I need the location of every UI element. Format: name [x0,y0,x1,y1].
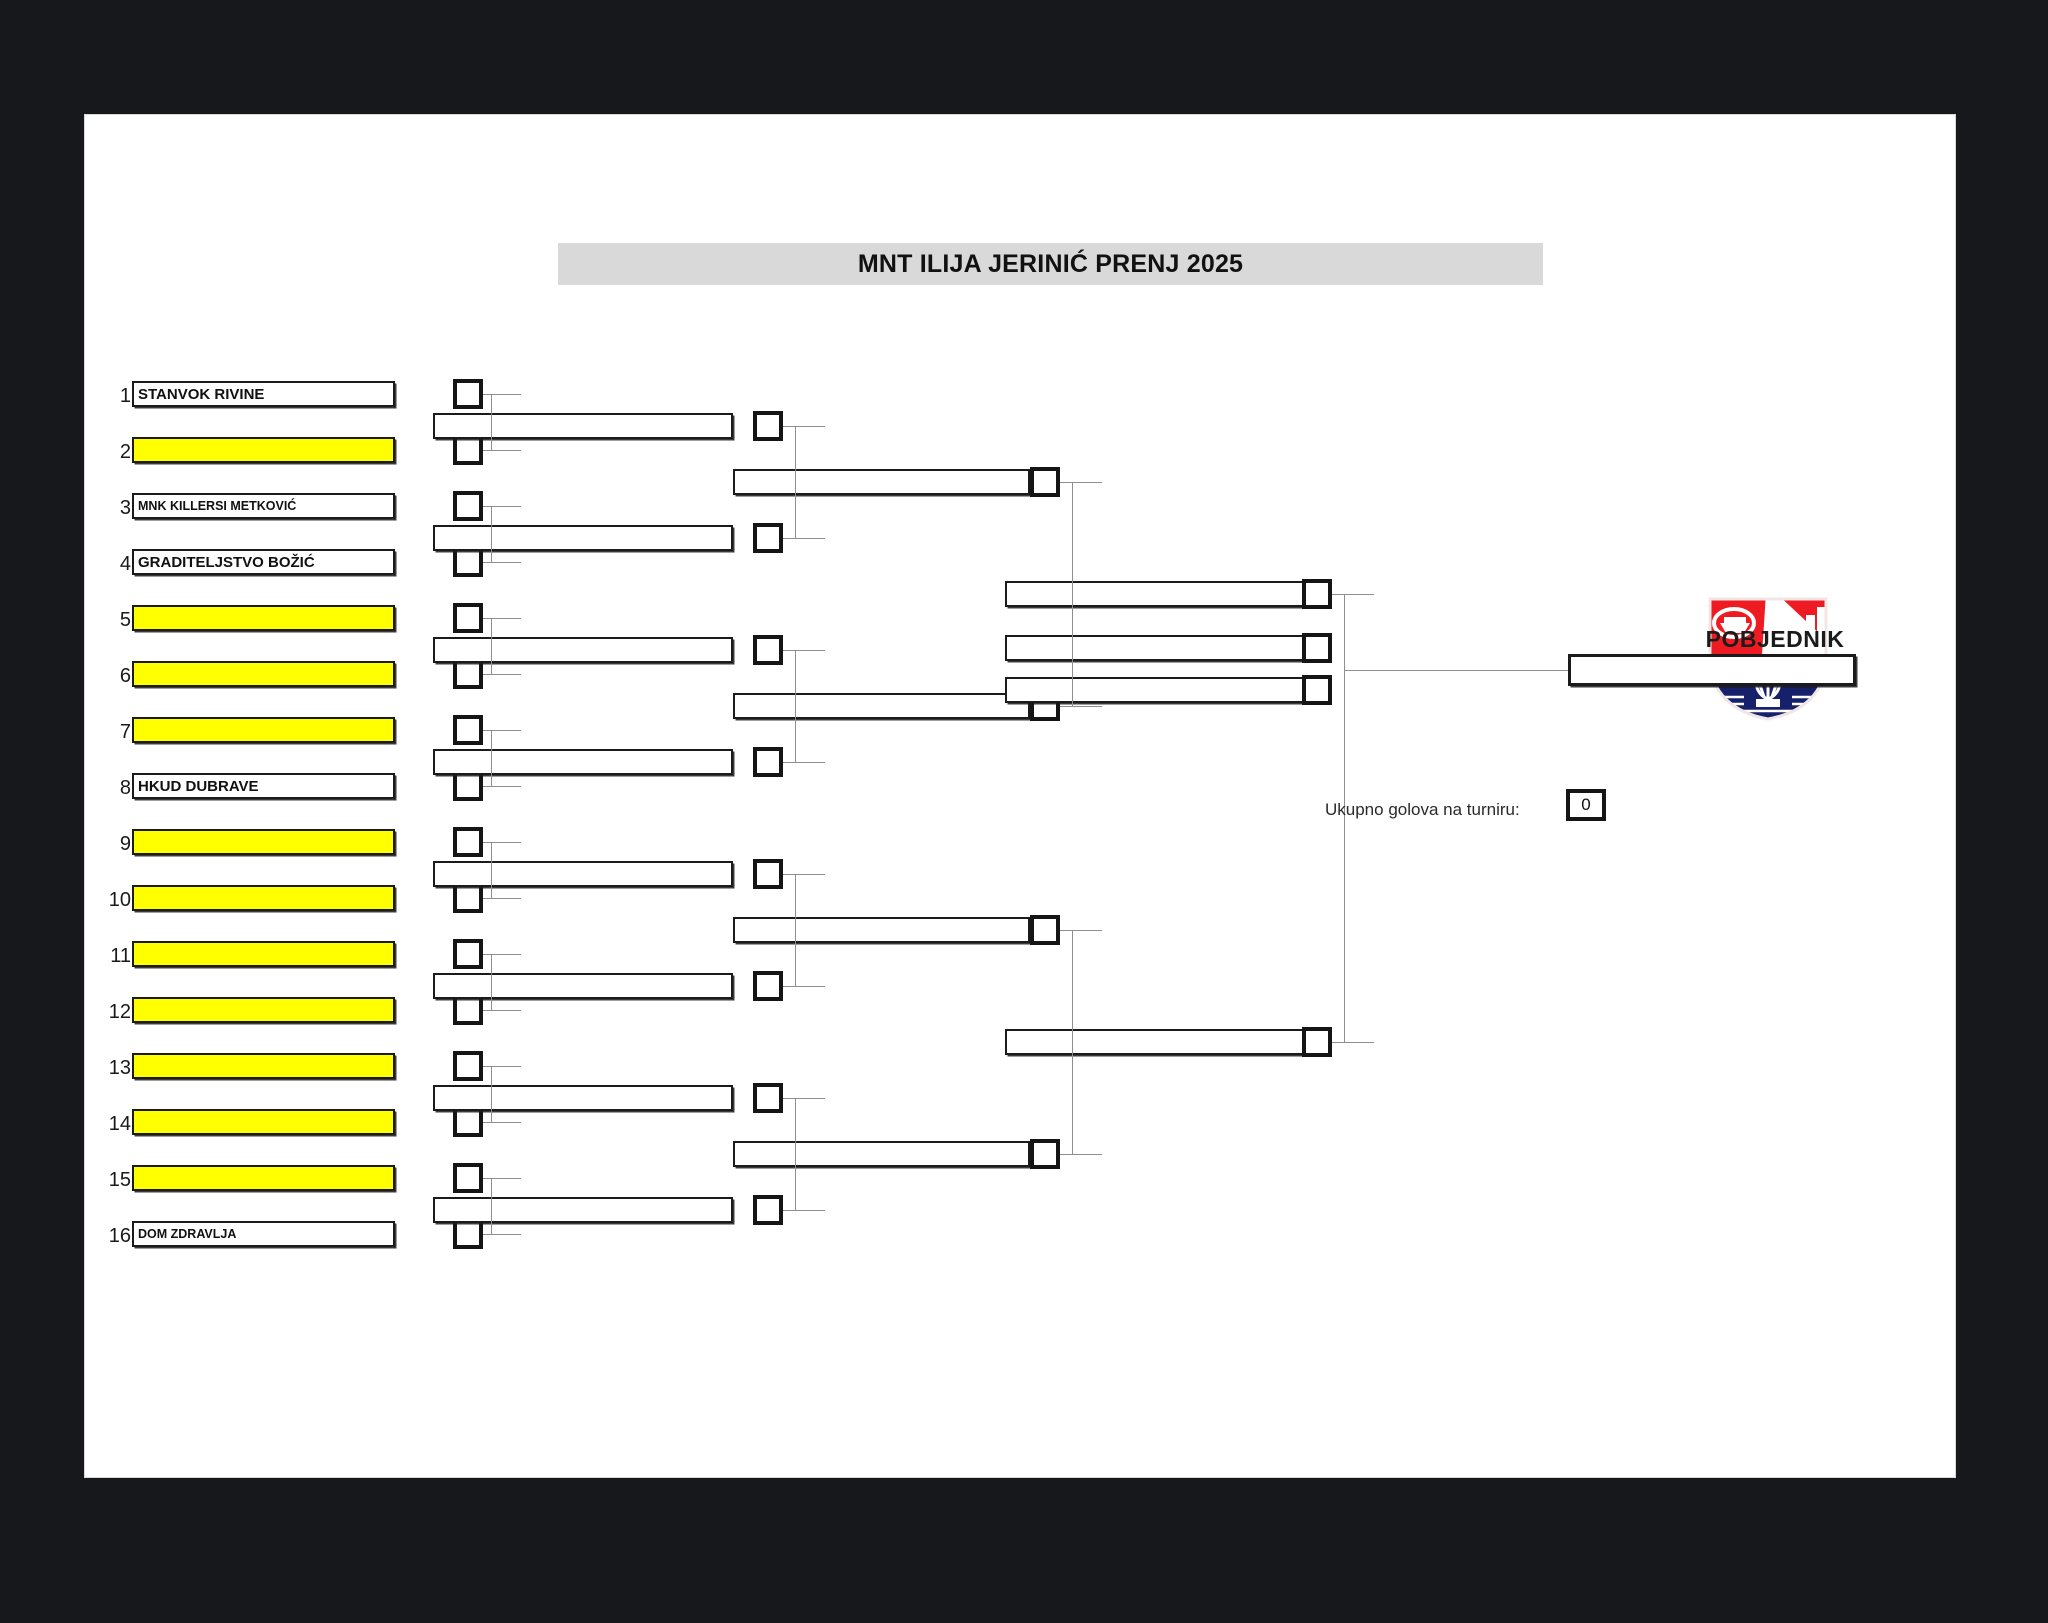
team-slot-14[interactable] [132,1109,395,1135]
round3-match-bar[interactable] [733,1141,1030,1167]
team-name: GRADITELJSTVO BOŽIĆ [138,554,315,571]
team-name: MNK KILLERSI METKOVIĆ [138,499,296,513]
bracket-connector [1332,594,1374,595]
team-slot-10[interactable] [132,885,395,911]
bracket-connector [1332,1042,1374,1043]
third-place-bar[interactable] [1005,677,1305,703]
bracket-connector [1072,930,1073,1154]
bracket-connector [783,538,825,539]
round3-match-bar[interactable] [733,693,1030,719]
team-name: STANVOK RIVINE [138,386,264,403]
round2-match-bar[interactable] [433,749,733,775]
bracket-connector [491,618,492,674]
seed-number: 9 [105,834,131,854]
bracket-connector [483,1122,521,1123]
team-slot-5[interactable] [132,605,395,631]
bracket-connector [491,954,492,1010]
bracket-connector [483,618,521,619]
seed-number: 12 [105,1002,131,1022]
team-slot-3[interactable]: MNK KILLERSI METKOVIĆ [132,493,395,519]
third-place-score[interactable] [1302,675,1332,705]
round1-score-4[interactable] [453,547,483,577]
bracket-connector [483,562,521,563]
round1-score-14[interactable] [453,1107,483,1137]
winner-label: POBJEDNIK [1630,626,1920,653]
team-slot-12[interactable] [132,997,395,1023]
round1-score-1[interactable] [453,379,483,409]
round2-match-bar[interactable] [433,1085,733,1111]
bracket-connector [795,426,796,538]
round1-score-11[interactable] [453,939,483,969]
round1-score-3[interactable] [453,491,483,521]
bracket-connector [1060,930,1102,931]
bracket-connector [483,730,521,731]
seed-number: 10 [105,890,131,910]
round2-score[interactable] [753,635,783,665]
bracket-connector [491,1178,492,1234]
semifinal-score[interactable] [1302,1027,1332,1057]
winner-box[interactable] [1568,654,1856,686]
total-goals-value[interactable]: 0 [1566,789,1606,821]
seed-number: 4 [105,554,131,574]
page-title: MNT ILIJA JERINIĆ PRENJ 2025 [858,250,1243,279]
bracket-connector [491,842,492,898]
bracket-connector [783,986,825,987]
bracket-connector [1072,482,1073,706]
seed-number: 3 [105,498,131,518]
round1-score-9[interactable] [453,827,483,857]
bracket-connector [483,1178,521,1179]
bracket-connector [483,674,521,675]
document-page: MNT ILIJA JERINIĆ PRENJ 2025 1STANVOK RI… [85,115,1955,1477]
seed-number: 8 [105,778,131,798]
bracket-connector [491,394,492,450]
seed-number: 7 [105,722,131,742]
team-slot-6[interactable] [132,661,395,687]
team-slot-16[interactable]: DOM ZDRAVLJA [132,1221,395,1247]
round2-score[interactable] [753,747,783,777]
team-slot-13[interactable] [132,1053,395,1079]
bracket-connector [483,506,521,507]
round1-score-16[interactable] [453,1219,483,1249]
bracket-connector [783,874,825,875]
third-place-score[interactable] [1302,633,1332,663]
page-title-banner: MNT ILIJA JERINIĆ PRENJ 2025 [558,243,1543,285]
seed-number: 16 [105,1226,131,1246]
round2-score[interactable] [753,971,783,1001]
round3-score[interactable] [1030,467,1060,497]
seed-number: 1 [105,386,131,406]
team-name: HKUD DUBRAVE [138,778,259,795]
round1-score-10[interactable] [453,883,483,913]
bracket-connector [483,1010,521,1011]
team-name: DOM ZDRAVLJA [138,1227,236,1241]
semifinal-match-bar[interactable] [1005,581,1305,607]
round3-score[interactable] [1030,915,1060,945]
round2-score[interactable] [753,523,783,553]
bracket-connector [483,394,521,395]
round3-match-bar[interactable] [733,469,1030,495]
bracket-connector [483,450,521,451]
bracket-connector [483,786,521,787]
bracket-connector [483,898,521,899]
seed-number: 11 [105,946,131,966]
bracket-connector [783,426,825,427]
team-slot-2[interactable] [132,437,395,463]
round2-score[interactable] [753,1195,783,1225]
round1-score-8[interactable] [453,771,483,801]
round2-match-bar[interactable] [433,861,733,887]
round1-score-6[interactable] [453,659,483,689]
seed-number: 13 [105,1058,131,1078]
round2-match-bar[interactable] [433,973,733,999]
bracket-connector [483,1234,521,1235]
semifinal-match-bar[interactable] [1005,1029,1305,1055]
round1-score-7[interactable] [453,715,483,745]
bracket-connector [783,650,825,651]
round1-score-15[interactable] [453,1163,483,1193]
team-slot-11[interactable] [132,941,395,967]
bracket-connector [783,1098,825,1099]
seed-number: 6 [105,666,131,686]
team-slot-4[interactable]: GRADITELJSTVO BOŽIĆ [132,549,395,575]
round2-match-bar[interactable] [433,637,733,663]
round3-match-bar[interactable] [733,917,1030,943]
bracket-connector [1060,482,1102,483]
seed-number: 5 [105,610,131,630]
bracket-connector [491,730,492,786]
round3-score[interactable] [1030,1139,1060,1169]
bracket-connector [783,1210,825,1211]
round1-score-12[interactable] [453,995,483,1025]
round1-score-5[interactable] [453,603,483,633]
team-slot-9[interactable] [132,829,395,855]
third-place-bar[interactable] [1005,635,1305,661]
bracket-connector [491,1066,492,1122]
team-slot-7[interactable] [132,717,395,743]
bracket-connector [483,842,521,843]
semifinal-score[interactable] [1302,579,1332,609]
round2-match-bar[interactable] [433,413,733,439]
round2-score[interactable] [753,411,783,441]
bracket-connector [483,1066,521,1067]
team-slot-8[interactable]: HKUD DUBRAVE [132,773,395,799]
round1-score-13[interactable] [453,1051,483,1081]
seed-number: 15 [105,1170,131,1190]
team-slot-15[interactable] [132,1165,395,1191]
total-goals-label: Ukupno golova na turniru: [1325,800,1520,820]
bracket-connector [491,506,492,562]
round1-score-2[interactable] [453,435,483,465]
bracket-connector [1060,706,1102,707]
round2-score[interactable] [753,859,783,889]
round2-score[interactable] [753,1083,783,1113]
round2-match-bar[interactable] [433,1197,733,1223]
bracket-connector [795,1098,796,1210]
round2-match-bar[interactable] [433,525,733,551]
bracket-connector [483,954,521,955]
bracket-connector [795,650,796,762]
seed-number: 14 [105,1114,131,1134]
bracket-connector [783,762,825,763]
bracket-connector [795,874,796,986]
seed-number: 2 [105,442,131,462]
team-slot-1[interactable]: STANVOK RIVINE [132,381,395,407]
bracket-connector [1060,1154,1102,1155]
bracket-connector [1344,670,1568,671]
